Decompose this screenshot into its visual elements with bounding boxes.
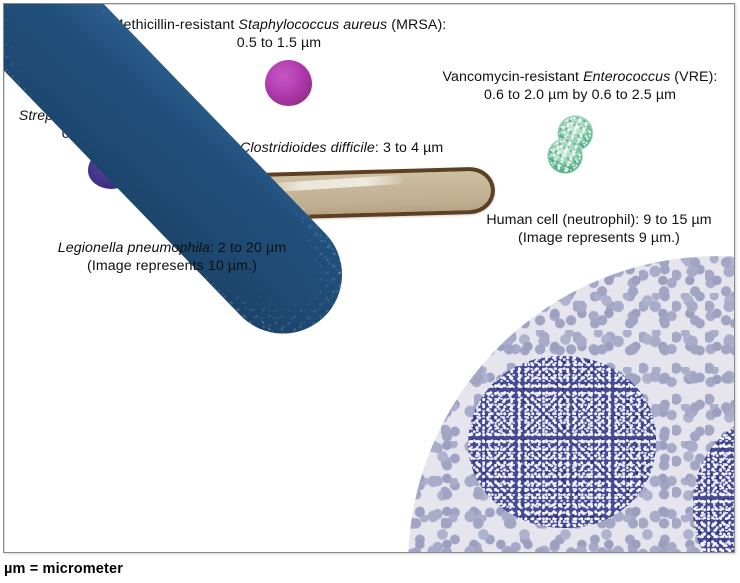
- neutrophil-cytoplasm: [408, 256, 735, 553]
- label-cdifficile-suffix: : 3 to 4 µm: [375, 140, 443, 156]
- label-mrsa-suffix: (MRSA):: [387, 17, 446, 33]
- label-vre-prefix: Vancomycin-resistant: [443, 69, 584, 85]
- footnote-micrometer: µm = micrometer: [4, 561, 123, 577]
- label-mrsa-line1: Methicillin-resistant Staphylococcus aur…: [101, 17, 457, 35]
- organism-mrsa-coccus: [265, 60, 312, 106]
- label-mrsa-line2: 0.5 to 1.5 µm: [101, 35, 457, 53]
- label-vre-suffix: (VRE):: [670, 69, 717, 85]
- label-cdifficile-species: Clostridioides difficile: [240, 140, 375, 156]
- label-legionella: Legionella pneumophila: 2 to 20 µm (Imag…: [12, 240, 332, 275]
- label-legionella-line2: (Image represents 10 µm.): [12, 258, 332, 276]
- organism-neutrophil-cell: [408, 256, 735, 553]
- label-vre-species: Enterococcus: [583, 69, 670, 85]
- label-legionella-suffix: : 2 to 20 µm: [210, 240, 286, 256]
- label-vre-line2: 0.6 to 2.0 µm by 0.6 to 2.5 µm: [428, 87, 732, 105]
- label-vre: Vancomycin-resistant Enterococcus (VRE):…: [428, 69, 732, 104]
- label-cdifficile: Clostridioides difficile: 3 to 4 µm: [240, 140, 443, 158]
- label-legionella-species: Legionella pneumophila: [58, 240, 210, 256]
- neutrophil-nucleus-lobe-2: [693, 416, 735, 553]
- label-neutrophil: Human cell (neutrophil): 9 to 15 µm (Ima…: [463, 212, 735, 247]
- neutrophil-nucleus-lobe-1: [468, 356, 656, 528]
- label-neutrophil-line2: (Image represents 9 µm.): [463, 230, 735, 248]
- organism-vre-diplococcus: [537, 108, 602, 183]
- label-neutrophil-line1: Human cell (neutrophil): 9 to 15 µm: [463, 212, 735, 230]
- figure-page: Methicillin-resistant Staphylococcus aur…: [0, 0, 740, 583]
- label-legionella-line1: Legionella pneumophila: 2 to 20 µm: [12, 240, 332, 258]
- label-mrsa-species: Staphylococcus aureus: [238, 17, 387, 33]
- label-vre-line1: Vancomycin-resistant Enterococcus (VRE):: [428, 69, 732, 87]
- figure-frame: Methicillin-resistant Staphylococcus aur…: [3, 3, 735, 553]
- label-mrsa: Methicillin-resistant Staphylococcus aur…: [101, 17, 457, 52]
